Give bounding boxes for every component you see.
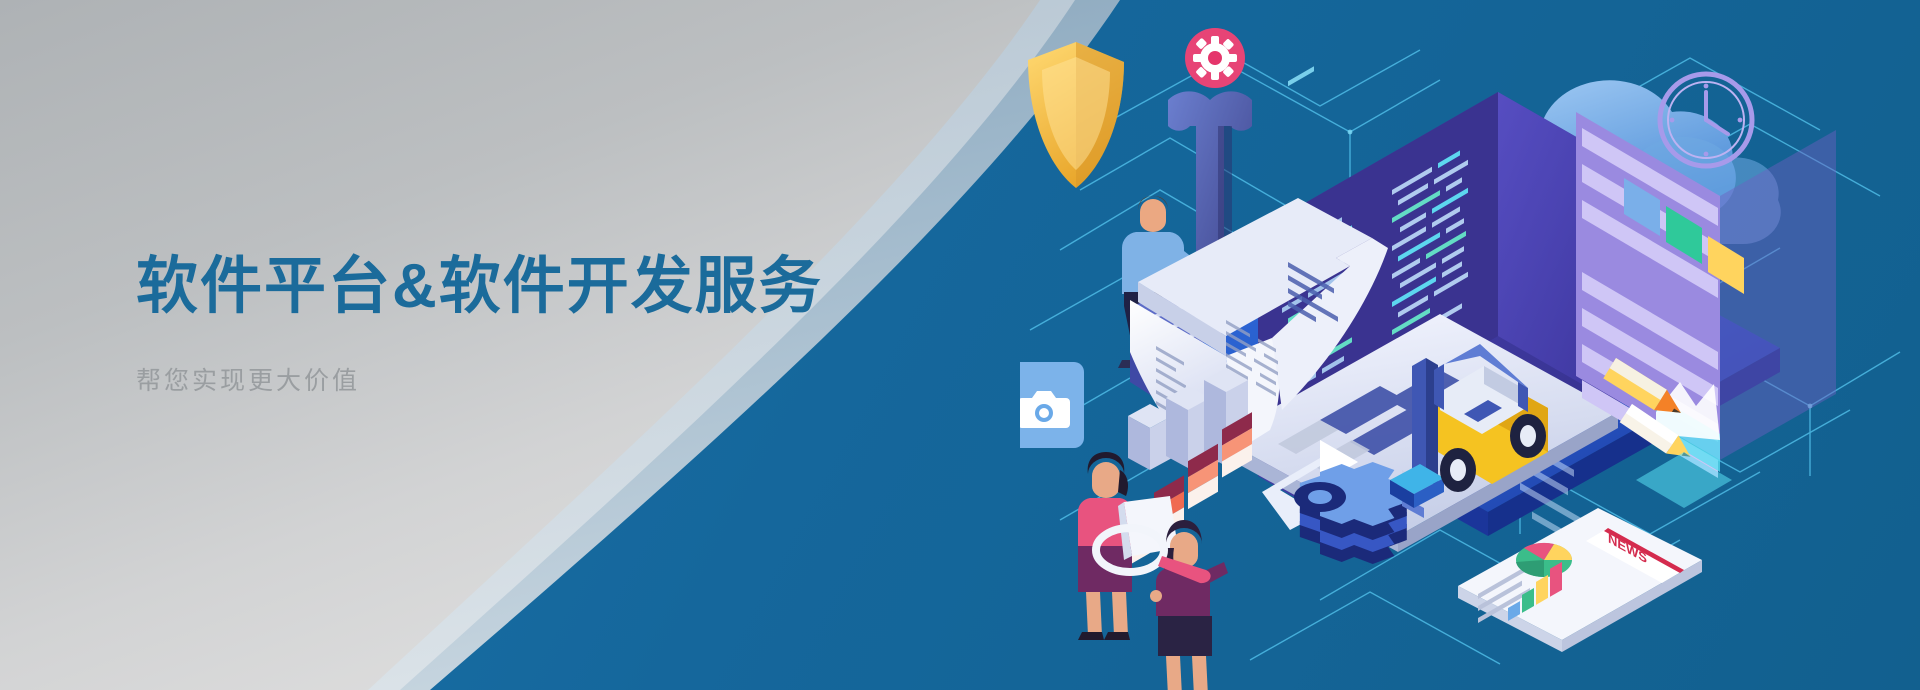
page-title: 软件平台&软件开发服务	[136, 252, 916, 321]
camera-icon	[1020, 362, 1084, 448]
clock-icon	[1660, 74, 1752, 166]
code-lines-graphic	[1288, 66, 1314, 86]
hero-banner: 软件平台&软件开发服务 帮您实现更大价值	[0, 0, 1920, 690]
hero-illustration: NEWS	[1020, 0, 1920, 690]
pie-chart-graphic	[1516, 543, 1572, 577]
shield-icon	[1028, 42, 1124, 188]
hero-text-block: 软件平台&软件开发服务 帮您实现更大价值	[136, 252, 916, 397]
gear-badge-icon	[1185, 28, 1245, 88]
page-subtitle: 帮您实现更大价值	[136, 361, 916, 397]
